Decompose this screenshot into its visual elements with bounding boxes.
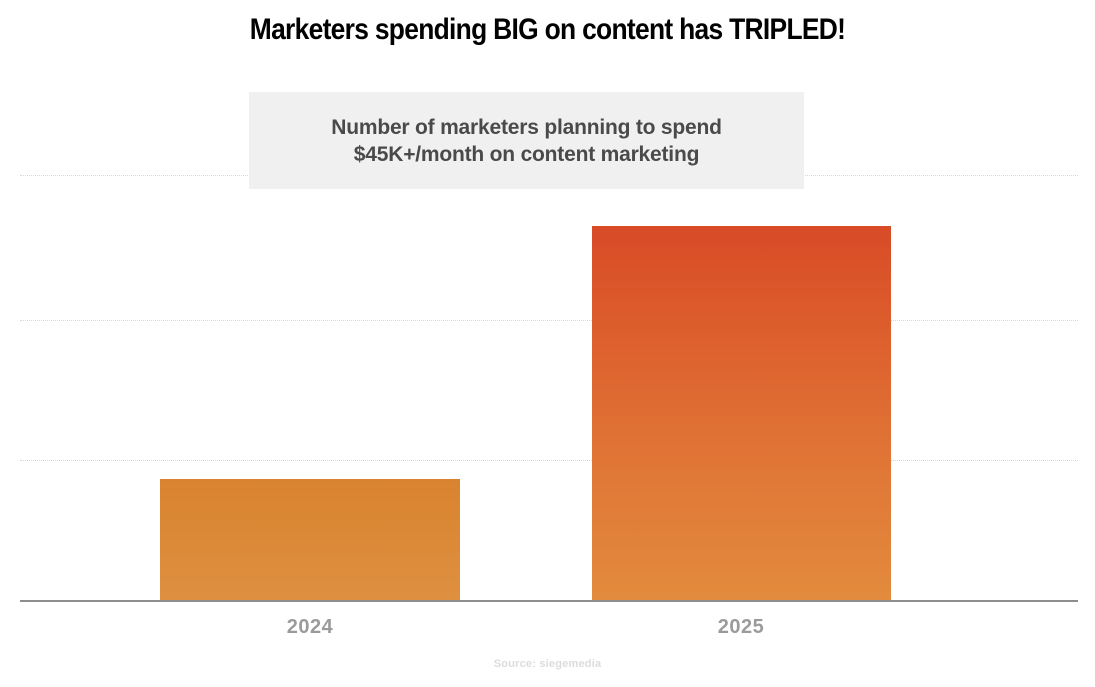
- bar-2024[interactable]: [160, 479, 460, 600]
- x-axis-label-2025: 2025: [641, 616, 841, 639]
- subtitle-panel: Number of marketers planning to spend $4…: [249, 92, 804, 189]
- chart-container: Marketers spending BIG on content has TR…: [0, 0, 1095, 687]
- chart-subtitle: Number of marketers planning to spend $4…: [331, 114, 722, 168]
- x-axis-line: [20, 600, 1078, 602]
- source-attribution: Source: siegemedia: [0, 658, 1095, 670]
- bar-2025[interactable]: [592, 226, 891, 600]
- gridline-2: [20, 320, 1078, 322]
- x-axis-label-2024: 2024: [210, 616, 410, 639]
- gridline-3: [20, 460, 1078, 462]
